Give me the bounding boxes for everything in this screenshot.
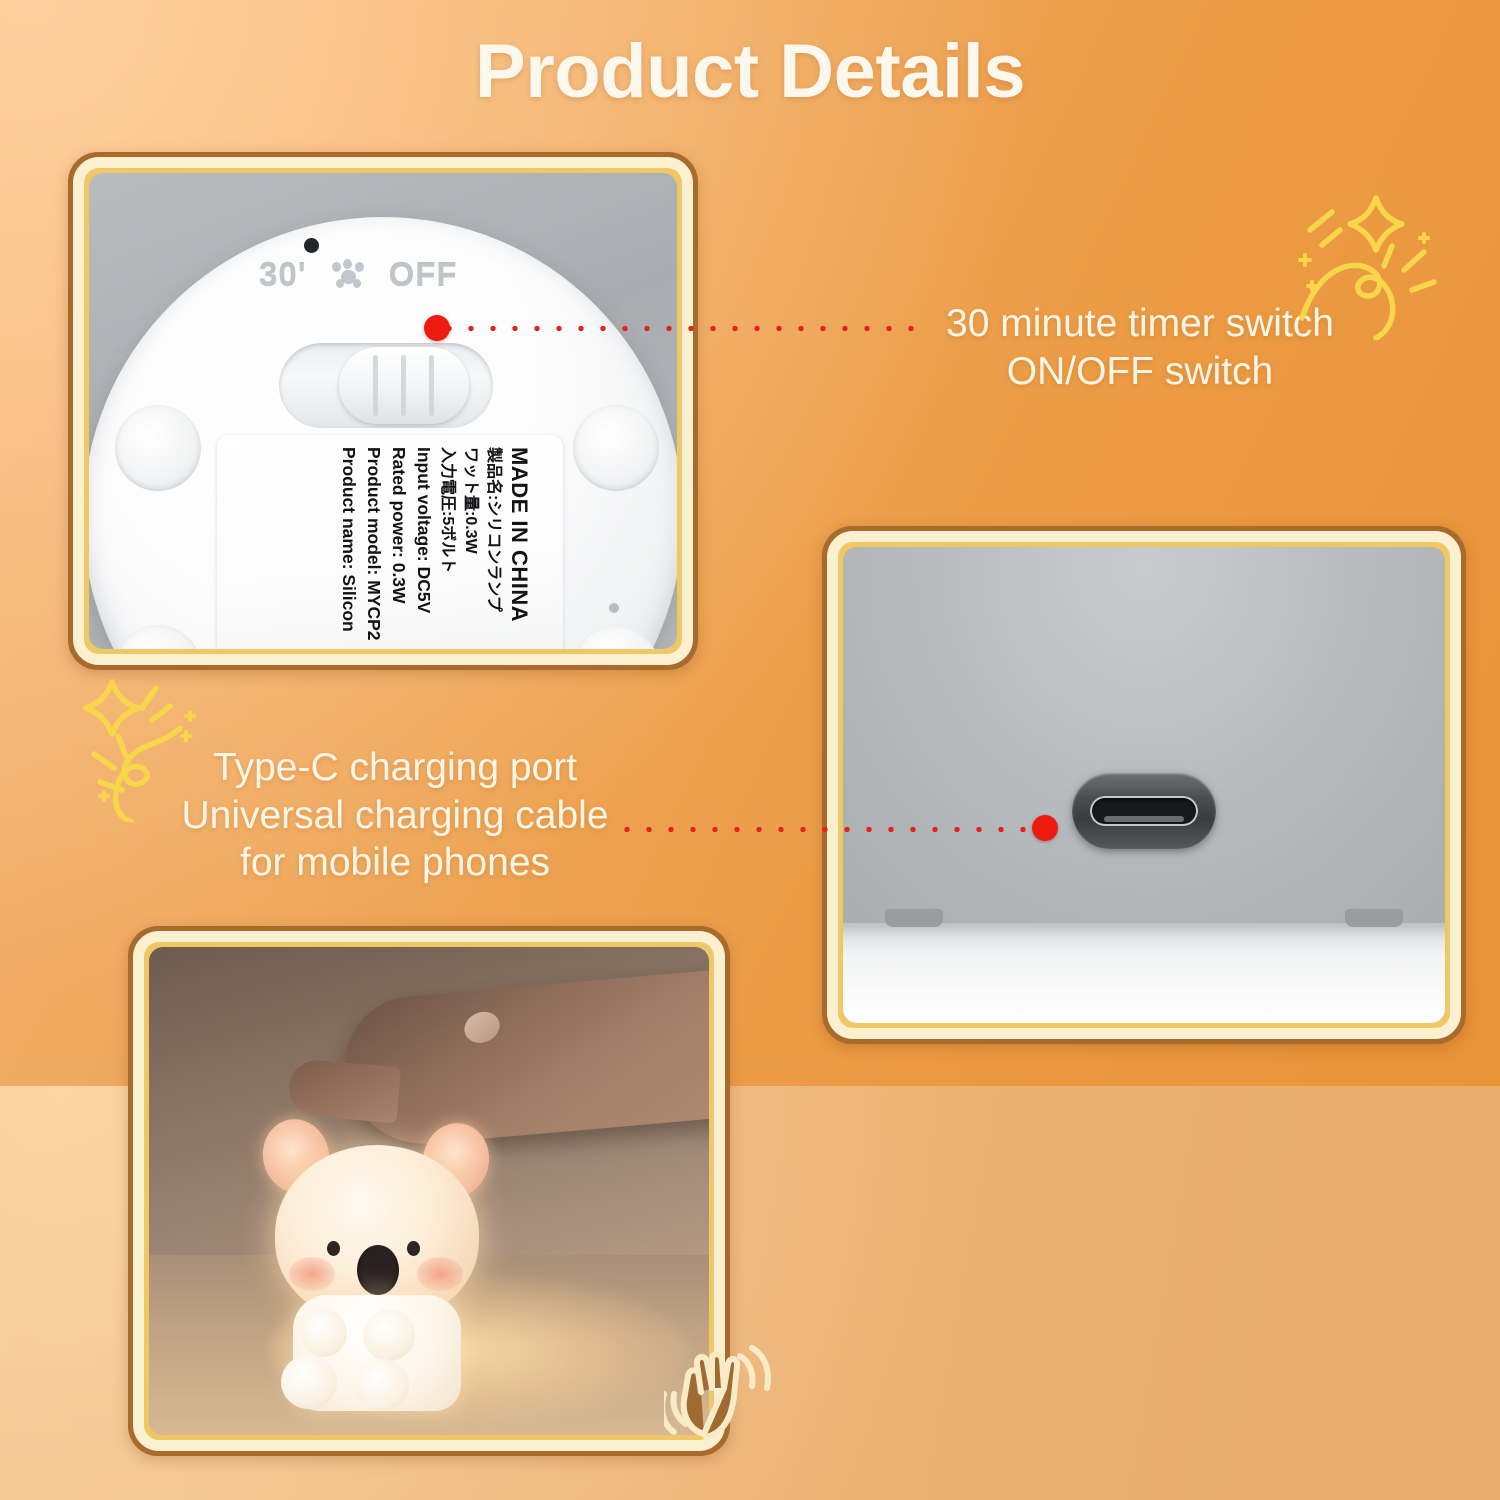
timer-marking: 30' <box>259 256 307 294</box>
spec-line: Rated power: 0.3W <box>386 447 411 649</box>
bear-paw <box>363 1309 415 1361</box>
bear-cheek-right <box>417 1257 463 1291</box>
lamp-base-photo: 30' OFF MADE IN CHINA 製品名:シリコンランプ <box>89 173 677 649</box>
lamp-foot <box>885 909 943 927</box>
tap-control-photo-frame <box>128 926 730 1456</box>
paw-icon <box>331 259 365 291</box>
bear-paw <box>281 1355 337 1409</box>
timer-slider-track[interactable] <box>279 343 493 428</box>
lamp-body-rear <box>843 547 1445 923</box>
callout-line: ON/OFF switch <box>900 348 1380 396</box>
bear-eye-left <box>327 1241 340 1256</box>
usb-c-port-icon <box>1072 773 1216 849</box>
bear-paw <box>355 1359 409 1411</box>
spec-line: Product model: MYCP2 <box>361 447 386 649</box>
callout-line: for mobile phones <box>140 839 650 887</box>
vent-hole-icon <box>609 603 619 613</box>
bear-night-light <box>257 1119 493 1411</box>
spec-jp-line: 入力電圧:5ボルト <box>436 447 459 649</box>
bear-paw <box>301 1309 347 1357</box>
lamp-foot <box>1345 909 1403 927</box>
frame-inner-border <box>827 531 1461 1039</box>
reset-pinhole-icon <box>304 238 319 253</box>
bear-eye-right <box>407 1241 420 1256</box>
usb-c-port-slot <box>1090 796 1198 826</box>
marker-dot-timer-switch <box>424 315 450 341</box>
bear-nose <box>357 1245 399 1295</box>
product-spec-label: MADE IN CHINA 製品名:シリコンランプ ワット量:0.3W 入力電圧… <box>217 435 563 649</box>
leader-line-type-c <box>616 825 1054 834</box>
spec-line: Product name: Silicon <box>336 447 361 649</box>
frame-inner-border: 30' OFF MADE IN CHINA 製品名:シリコンランプ <box>73 157 693 665</box>
page-title: Product Details <box>0 32 1500 112</box>
usb-c-photo-frame <box>822 526 1466 1044</box>
lamp-base-photo-frame: 30' OFF MADE IN CHINA 製品名:シリコンランプ <box>68 152 698 670</box>
tap-control-photo <box>149 947 709 1435</box>
timer-slider-knob[interactable] <box>339 347 469 424</box>
spec-line: Input voltage: DC5V <box>411 447 436 649</box>
made-in-text: MADE IN CHINA <box>504 447 535 649</box>
spec-label-text-block: MADE IN CHINA 製品名:シリコンランプ ワット量:0.3W 入力電圧… <box>217 435 563 649</box>
switch-markings: 30' OFF <box>259 255 559 295</box>
sparkle-doodle-right <box>1288 190 1468 340</box>
frame-inner-border <box>133 931 725 1451</box>
rubber-foot <box>115 405 201 491</box>
marker-dot-type-c <box>1032 815 1058 841</box>
off-marking: OFF <box>389 256 458 294</box>
bear-cheek-left <box>289 1257 335 1291</box>
spec-jp-line: ワット量:0.3W <box>458 447 481 649</box>
spec-jp-line: 製品名:シリコンランプ <box>481 447 504 649</box>
usb-c-port-photo <box>843 547 1445 1023</box>
table-surface <box>843 915 1445 1023</box>
clapping-hands-icon <box>664 1338 774 1448</box>
rubber-foot <box>573 405 659 491</box>
sparkle-doodle-left <box>78 672 258 822</box>
leader-line-timer-switch <box>438 324 918 333</box>
fingernail <box>460 1007 505 1049</box>
